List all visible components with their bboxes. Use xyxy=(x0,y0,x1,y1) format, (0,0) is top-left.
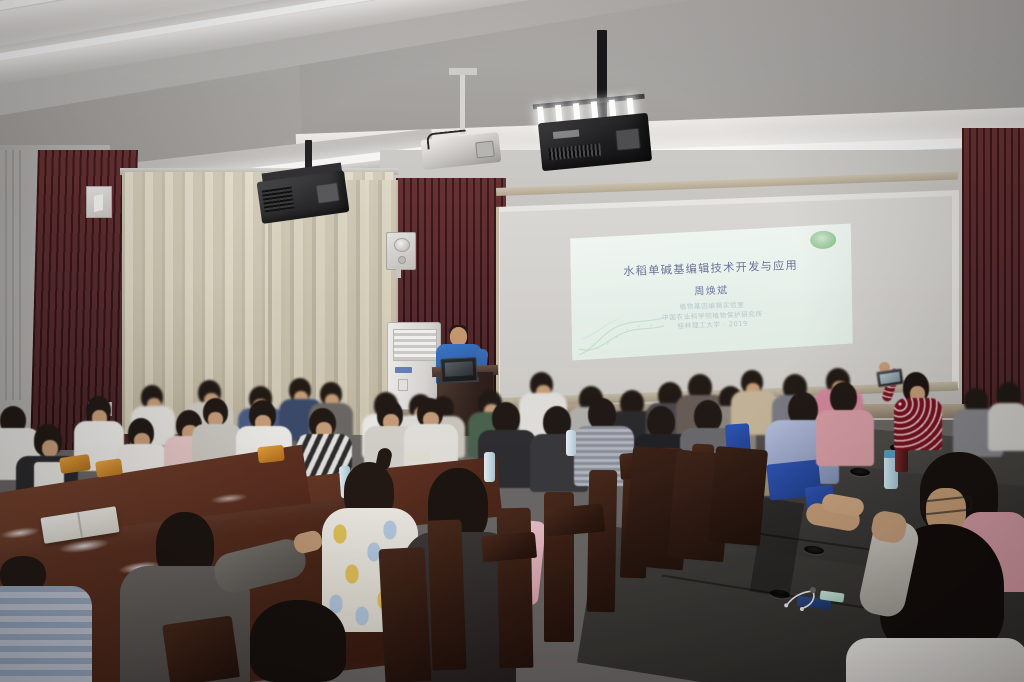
speaker-tweeter-icon xyxy=(398,256,406,264)
chair[interactable] xyxy=(587,470,617,612)
speaker-cone-icon xyxy=(394,238,410,252)
chair[interactable] xyxy=(427,519,466,670)
wall-plate-icon xyxy=(86,186,112,218)
chair-arm[interactable] xyxy=(481,532,537,563)
ac-louvers-icon xyxy=(393,329,437,361)
slide-title: 水稻单碱基编辑技术开发与应用 xyxy=(570,255,851,281)
presenter-laptop[interactable] xyxy=(440,357,477,383)
projector-left-lens-icon xyxy=(315,182,339,204)
slide-affiliation: 植物基因编辑实验室 中国农业科学院植物保护研究所 桂林理工大学 · 2019 xyxy=(571,297,853,336)
person-torso xyxy=(846,638,1024,682)
left-wall-conduit xyxy=(0,150,24,400)
chair[interactable] xyxy=(379,547,432,682)
person-torso xyxy=(0,586,92,682)
speaker-bracket xyxy=(396,266,401,278)
projector-center-cable-icon xyxy=(426,129,467,149)
wall-speaker xyxy=(386,232,416,270)
drink-cup[interactable] xyxy=(59,454,91,474)
water-bottle[interactable] xyxy=(484,452,495,482)
projector-center-lens-icon xyxy=(475,141,495,159)
ac-brand-badge xyxy=(395,367,412,373)
chair[interactable] xyxy=(708,446,768,546)
projector-left-vent-icon xyxy=(262,187,295,213)
projector-center-ceiling-plate xyxy=(449,68,477,75)
water-bottle[interactable] xyxy=(566,430,576,456)
projector-right-label xyxy=(553,130,580,139)
projector-center-pole xyxy=(460,72,465,134)
chair-arm[interactable] xyxy=(545,504,605,537)
institute-logo-icon xyxy=(810,230,837,249)
laptop-screen xyxy=(445,361,474,376)
projected-slide: 水稻单碱基编辑技术开发与应用 周焕斌 植物基因编辑实验室 中国农业科学院植物保护… xyxy=(570,224,853,361)
photograph-scene: 水稻单碱基编辑技术开发与应用 周焕斌 植物基因编辑实验室 中国农业科学院植物保护… xyxy=(0,0,1024,682)
projector-right-lens-icon xyxy=(615,128,641,151)
ac-control-knob[interactable] xyxy=(398,379,408,391)
projector-right-grille-icon xyxy=(548,144,601,161)
drink-cup[interactable] xyxy=(257,445,285,464)
person-head xyxy=(250,600,346,682)
chair[interactable] xyxy=(162,615,240,682)
